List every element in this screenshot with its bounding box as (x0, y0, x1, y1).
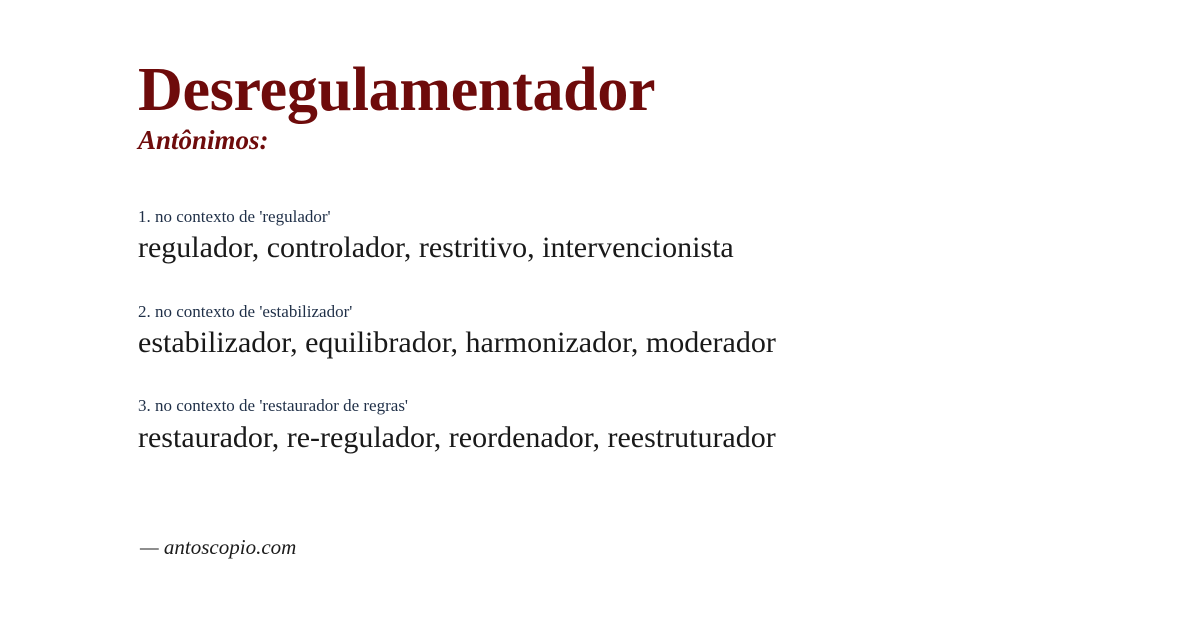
sense-context-label: 1. no contexto de 'regulador' (138, 206, 1170, 227)
sense-list: 1. no contexto de 'regulador' regulador,… (138, 206, 1170, 457)
sense-block-2: 2. no contexto de 'estabilizador' estabi… (138, 301, 1170, 363)
card-header: Desregulamentador Antônimos: (138, 58, 1160, 155)
sense-terms: restaurador, re-regulador, reordenador, … (138, 419, 1170, 457)
source-credit: — antoscopio.com (140, 535, 296, 560)
page-title: Desregulamentador (138, 58, 1160, 124)
sense-terms: regulador, controlador, restritivo, inte… (138, 229, 1170, 267)
antonym-card: Desregulamentador Antônimos: 1. no conte… (0, 0, 1200, 628)
sense-context-label: 2. no contexto de 'estabilizador' (138, 301, 1170, 322)
sense-block-1: 1. no contexto de 'regulador' regulador,… (138, 206, 1170, 268)
section-label-antonyms: Antônimos: (138, 126, 1160, 156)
card-footer: — antoscopio.com (140, 535, 296, 560)
sense-context-label: 3. no contexto de 'restaurador de regras… (138, 395, 1170, 416)
sense-block-3: 3. no contexto de 'restaurador de regras… (138, 395, 1170, 457)
sense-terms: estabilizador, equilibrador, harmonizado… (138, 324, 1170, 362)
